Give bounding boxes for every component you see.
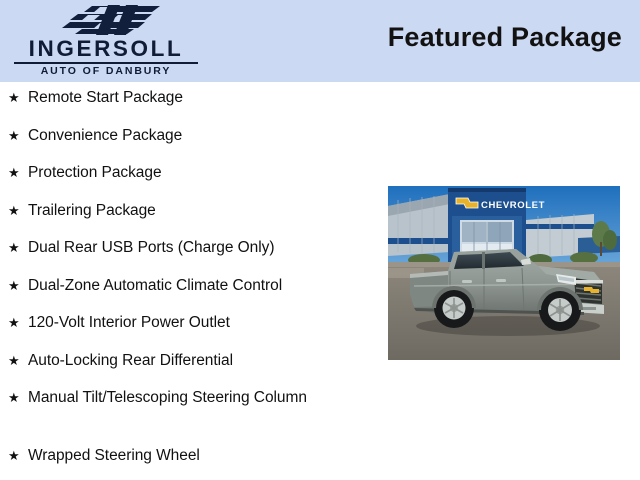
list-item: ★ 120-Volt Interior Power Outlet — [0, 309, 380, 347]
list-item: ★ Protection Package — [0, 159, 380, 197]
dealer-tagline: AUTO OF DANBURY — [6, 65, 206, 78]
dealer-logo: INGERSOLL AUTO OF DANBURY — [6, 2, 206, 80]
list-item-label: Dual-Zone Automatic Climate Control — [28, 272, 380, 296]
star-bullet-icon: ★ — [8, 442, 28, 470]
vehicle-photo: CHEVROLET — [388, 186, 620, 360]
brand-divider — [14, 62, 198, 64]
list-item: ★ Auto-Locking Rear Differential — [0, 347, 380, 385]
list-item: ★ Dual Rear USB Ports (Charge Only) — [0, 234, 380, 272]
svg-text:CHEVROLET: CHEVROLET — [481, 200, 545, 211]
list-item: ★ Convenience Package — [0, 122, 380, 160]
list-item-label: Convenience Package — [28, 122, 380, 146]
list-item: ★ Wrapped Steering Wheel — [0, 442, 380, 480]
list-item: ★ Trailering Package — [0, 197, 380, 235]
list-item-label: 120-Volt Interior Power Outlet — [28, 309, 380, 333]
list-item-label: Manual Tilt/Telescoping Steering Column — [28, 384, 380, 408]
list-item-label: Auto-Locking Rear Differential — [28, 347, 380, 371]
list-item-label: Wrapped Steering Wheel — [28, 442, 380, 466]
star-bullet-icon: ★ — [8, 309, 28, 337]
star-bullet-icon: ★ — [8, 347, 28, 375]
list-item-label: Trailering Package — [28, 197, 380, 221]
feature-list: ★ Remote Start Package ★ Convenience Pac… — [0, 84, 380, 480]
star-bullet-icon: ★ — [8, 272, 28, 300]
star-bullet-icon: ★ — [8, 159, 28, 187]
star-bullet-icon: ★ — [8, 122, 28, 150]
star-bullet-icon: ★ — [8, 84, 28, 112]
list-item: ★ Dual-Zone Automatic Climate Control — [0, 272, 380, 310]
star-bullet-icon: ★ — [8, 384, 28, 412]
featured-package-slide: INGERSOLL AUTO OF DANBURY Featured Packa… — [0, 0, 640, 480]
list-item-label: Protection Package — [28, 159, 380, 183]
header-band: INGERSOLL AUTO OF DANBURY Featured Packa… — [0, 0, 640, 82]
ingersoll-wing-flag-emblem-icon — [48, 4, 168, 36]
list-item-label: Dual Rear USB Ports (Charge Only) — [28, 234, 380, 258]
list-item: ★ Manual Tilt/Telescoping Steering Colum… — [0, 384, 380, 442]
list-item-label: Remote Start Package — [28, 84, 380, 108]
star-bullet-icon: ★ — [8, 234, 28, 262]
star-bullet-icon: ★ — [8, 197, 28, 225]
dealer-name: INGERSOLL — [6, 38, 206, 61]
page-title: Featured Package — [388, 22, 622, 53]
list-item: ★ Remote Start Package — [0, 84, 380, 122]
